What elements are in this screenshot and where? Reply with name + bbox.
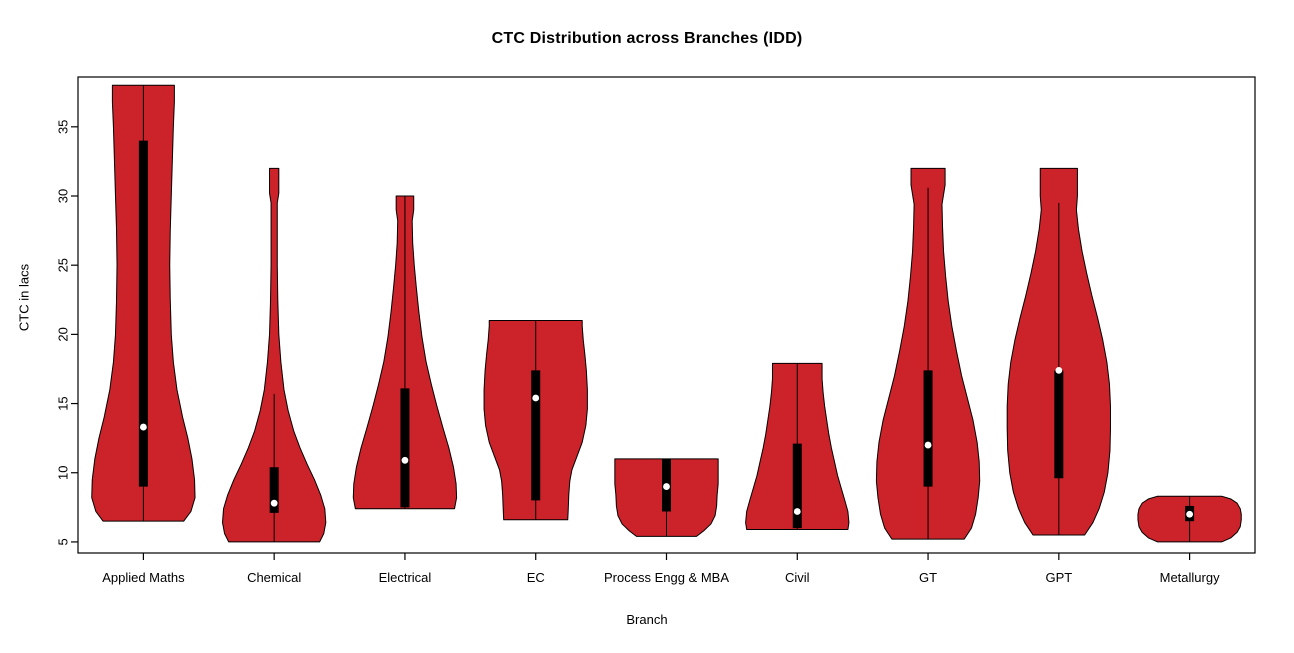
y-axis-tick-label: 30: [55, 189, 70, 203]
violin-median-point: [794, 508, 801, 515]
y-axis-tick-label: 5: [55, 538, 70, 545]
violin-civil[interactable]: [746, 363, 849, 529]
y-axis-tick-label: 15: [55, 396, 70, 410]
violins-layer: [92, 85, 1242, 542]
violin-chemical[interactable]: [223, 168, 326, 542]
violin-ec[interactable]: [484, 321, 587, 520]
violin-plot-svg: 5101520253035Applied MathsChemicalElectr…: [0, 0, 1294, 653]
x-axis-tick-label: Metallurgy: [1160, 570, 1220, 585]
violin-median-point: [140, 424, 147, 431]
violin-median-point: [532, 395, 539, 402]
violin-electrical[interactable]: [353, 196, 456, 509]
y-axis-tick-label: 35: [55, 120, 70, 134]
x-axis-tick-label: Electrical: [379, 570, 432, 585]
x-axis-tick-label: Process Engg & MBA: [604, 570, 729, 585]
violin-process-engg-mba[interactable]: [615, 459, 718, 536]
y-axis-tick-label: 25: [55, 258, 70, 272]
violin-median-point: [1055, 367, 1062, 374]
x-axis-tick-label: Civil: [785, 570, 810, 585]
x-axis-tick-label: Chemical: [247, 570, 301, 585]
y-axis-tick-label: 10: [55, 466, 70, 480]
x-axis-tick-label: GT: [919, 570, 937, 585]
violin-median-point: [271, 500, 278, 507]
chart-canvas: CTC Distribution across Branches (IDD) C…: [0, 0, 1294, 653]
x-axis-tick-label: EC: [527, 570, 545, 585]
x-axis-tick-label: Applied Maths: [102, 570, 185, 585]
violin-median-point: [402, 457, 409, 464]
violin-applied-maths[interactable]: [92, 85, 195, 521]
violin-median-point: [663, 483, 670, 490]
violin-median-point: [925, 442, 932, 449]
violin-gt[interactable]: [876, 168, 979, 539]
violin-metallurgy[interactable]: [1138, 496, 1241, 542]
x-axis-tick-label: GPT: [1045, 570, 1072, 585]
violin-gpt[interactable]: [1007, 168, 1110, 535]
y-axis-tick-label: 20: [55, 327, 70, 341]
violin-median-point: [1186, 511, 1193, 518]
